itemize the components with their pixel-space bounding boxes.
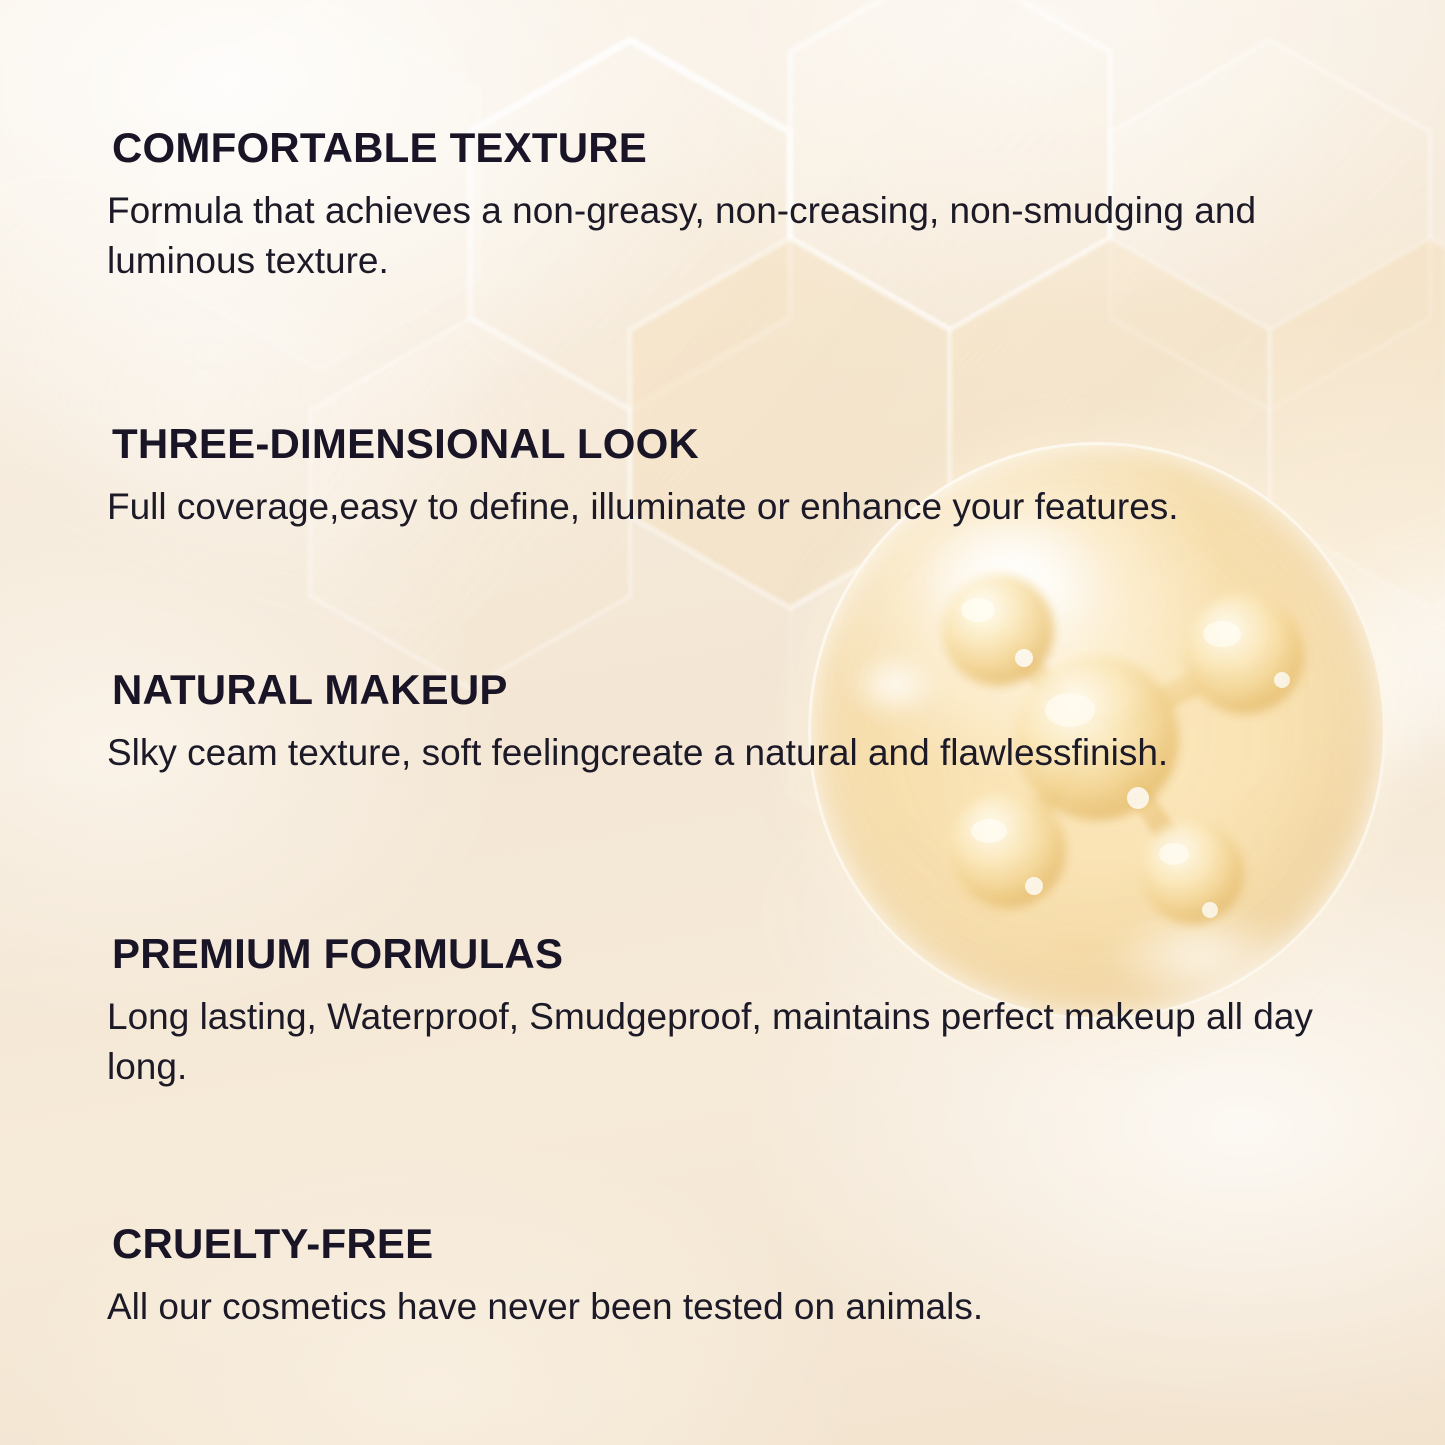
feature-natural-makeup: NATURAL MAKEUP Slky ceam texture, soft f… [107,668,1385,778]
product-feature-panel: COMFORTABLE TEXTURE Formula that achieve… [0,0,1445,1445]
feature-description: All our cosmetics have never been tested… [107,1282,1372,1333]
feature-list: COMFORTABLE TEXTURE Formula that achieve… [0,0,1445,1445]
feature-premium-formulas: PREMIUM FORMULAS Long lasting, Waterproo… [107,932,1385,1093]
feature-description: Formula that achieves a non-greasy, non-… [107,186,1372,287]
feature-title: PREMIUM FORMULAS [112,932,1385,976]
feature-title: COMFORTABLE TEXTURE [112,126,1385,170]
feature-description: Slky ceam texture, soft feelingcreate a … [107,728,1372,779]
feature-cruelty-free: CRUELTY-FREE All our cosmetics have neve… [107,1222,1385,1332]
feature-description: Long lasting, Waterproof, Smudgeproof, m… [107,992,1372,1093]
feature-title: THREE-DIMENSIONAL LOOK [112,422,1385,466]
feature-three-dimensional-look: THREE-DIMENSIONAL LOOK Full coverage,eas… [107,422,1385,532]
feature-title: NATURAL MAKEUP [112,668,1385,712]
feature-comfortable-texture: COMFORTABLE TEXTURE Formula that achieve… [107,126,1385,287]
feature-title: CRUELTY-FREE [112,1222,1385,1266]
feature-description: Full coverage,easy to define, illuminate… [107,482,1372,533]
